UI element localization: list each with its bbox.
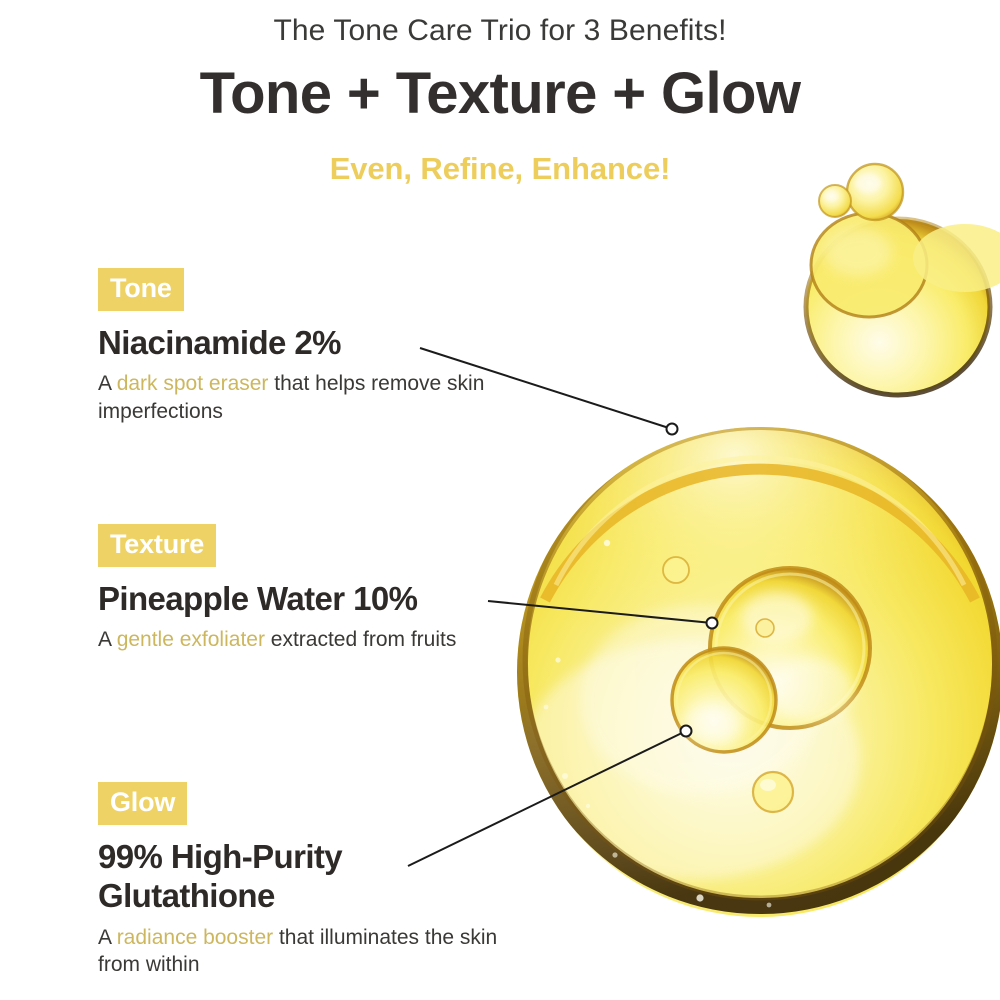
infographic-canvas: The Tone Care Trio for 3 Benefits! Tone … [0,0,1000,1000]
desc-highlight-tone: dark spot eraser [117,372,269,395]
benefit-title-glow: 99% High-Purity Glutathione [98,837,498,916]
leader-endpoint-glow [681,726,692,737]
desc-tail-texture: extracted from fruits [265,628,456,651]
micro-bubble-a [663,557,689,583]
benefit-block-tone: Tone Niacinamide 2% A dark spot eraser t… [98,268,498,426]
subheadline-text: Even, Refine, Enhance! [0,151,1000,187]
benefit-block-glow: Glow 99% High-Purity Glutathione A radia… [98,782,498,979]
droplet-cluster-overlap [811,213,927,317]
badge-texture: Texture [98,524,216,567]
page-title: Tone + Texture + Glow [0,60,1000,127]
leader-line-texture [488,601,712,623]
leader-endpoint-tone [667,424,678,435]
desc-lead-glow: A [98,926,117,949]
micro-bubble-b [753,772,793,812]
inner-bubble-small [672,648,776,752]
droplet-cluster-large [806,219,990,395]
inner-bubble-large [710,568,870,728]
droplet-inner-bubbles [663,557,870,812]
leader-endpoint-texture [707,618,718,629]
desc-highlight-glow: radiance booster [117,926,273,949]
badge-tone: Tone [98,268,184,311]
benefit-description-glow: A radiance booster that illuminates the … [98,924,498,979]
desc-lead-texture: A [98,628,117,651]
benefit-description-tone: A dark spot eraser that helps remove ski… [98,370,498,425]
eyebrow-text: The Tone Care Trio for 3 Benefits! [0,14,1000,48]
badge-glow: Glow [98,782,187,825]
benefit-block-texture: Texture Pineapple Water 10% A gentle exf… [98,524,498,654]
desc-lead-tone: A [98,372,117,395]
droplet-main [517,385,1000,917]
benefit-title-tone: Niacinamide 2% [98,323,498,362]
benefit-description-texture: A gentle exfoliater extracted from fruit… [98,626,498,654]
droplet-cluster-top-right [806,164,1000,395]
droplet-small-b [819,185,851,217]
desc-highlight-texture: gentle exfoliater [117,628,265,651]
benefit-title-texture: Pineapple Water 10% [98,579,498,618]
